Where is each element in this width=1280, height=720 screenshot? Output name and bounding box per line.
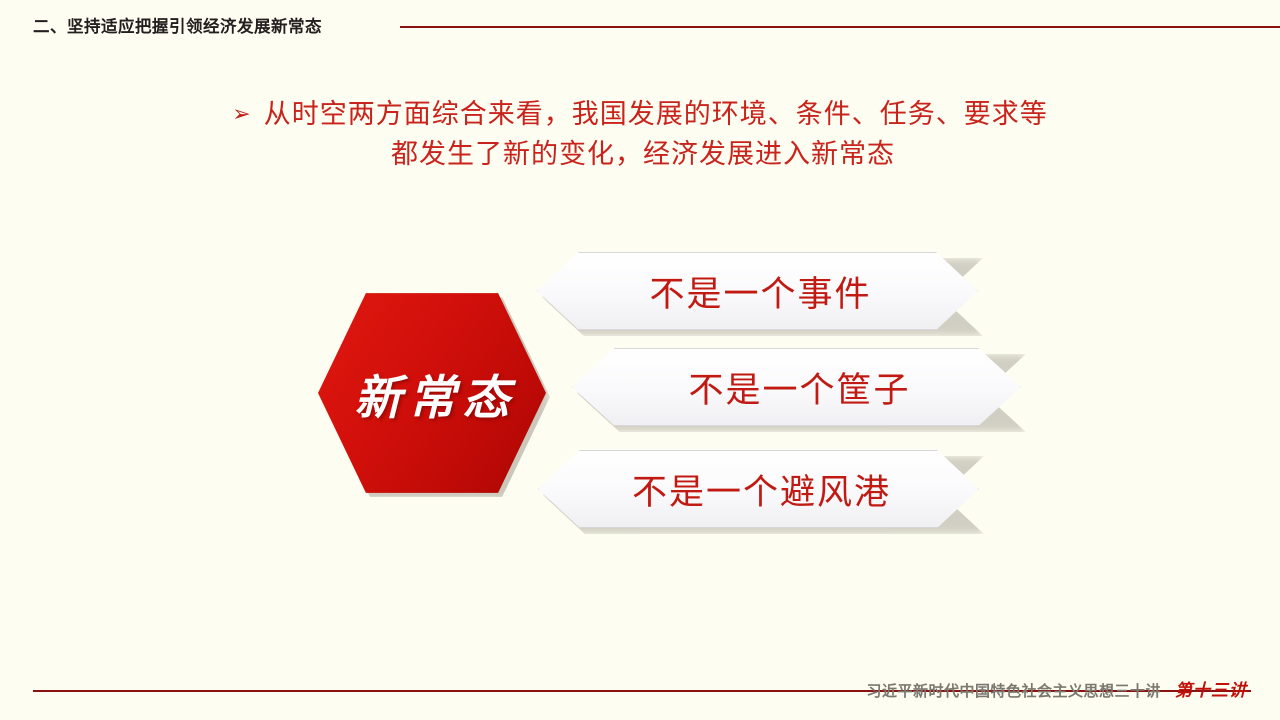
chevron-label: 不是一个事件 [643, 266, 871, 317]
hexagon-new-normal: 新常态 [314, 285, 550, 501]
footer-lecture-number: 第十三讲 [1175, 676, 1247, 701]
footer-series-title: 习近平新时代中国特色社会主义思想三十讲 [866, 680, 1161, 701]
hexagon-label: 新常态 [348, 359, 517, 428]
concept-diagram: 新常态 不是一个事件 不是一个筐子 不是一个避风港 [0, 0, 1280, 720]
chevron-label: 不是一个避风港 [626, 464, 891, 515]
chevron-item-3: 不是一个避风港 [538, 450, 979, 528]
chevron-label: 不是一个筐子 [682, 362, 910, 413]
chevron-shape: 不是一个筐子 [572, 348, 1021, 426]
chevron-shape: 不是一个事件 [537, 252, 978, 330]
chevron-item-1: 不是一个事件 [537, 252, 978, 330]
chevron-item-2: 不是一个筐子 [572, 348, 1021, 426]
footer: 习近平新时代中国特色社会主义思想三十讲 第十三讲 [866, 676, 1247, 701]
chevron-shape: 不是一个避风港 [538, 450, 979, 528]
slide-canvas: 二、坚持适应把握引领经济发展新常态 ➢从时空两方面综合来看，我国发展的环境、条件… [0, 0, 1280, 720]
